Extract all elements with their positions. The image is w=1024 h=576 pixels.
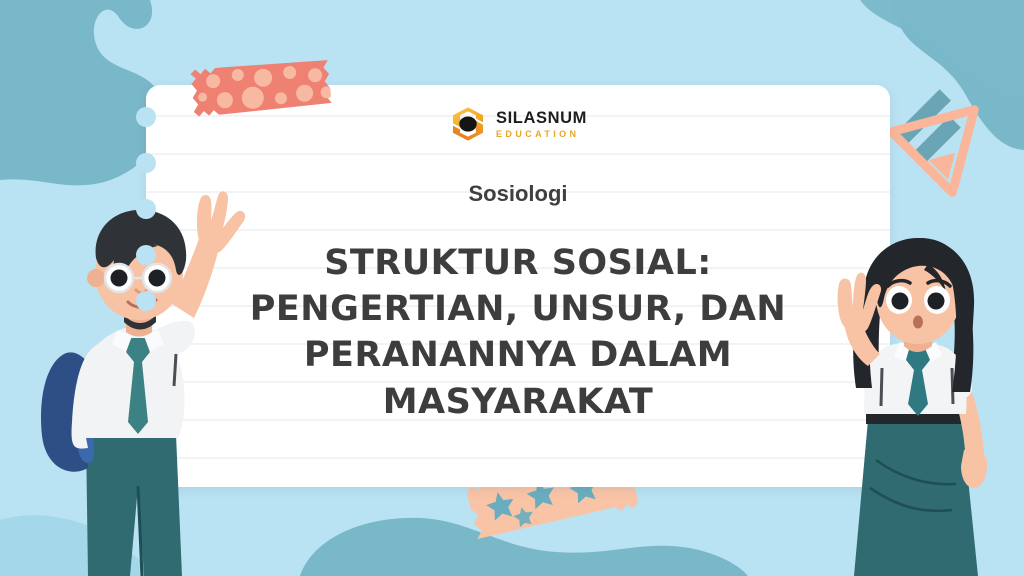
boy-ear bbox=[87, 269, 105, 287]
boy-shirt-seam bbox=[174, 354, 176, 386]
title-line-1: STRUKTUR SOSIAL: bbox=[206, 240, 830, 286]
triangle-ornament-icon bbox=[888, 88, 994, 198]
notebook-paper: SILASNUM EDUCATION Sosiologi STRUKTUR SO… bbox=[146, 85, 890, 487]
title-line-3: PERANANNYA DALAM bbox=[206, 332, 830, 378]
student-girl-illustration bbox=[806, 236, 1024, 576]
paper-binding-notches bbox=[136, 85, 158, 487]
girl-shirt-seam-left bbox=[881, 368, 882, 406]
subject-label: Sosiologi bbox=[146, 181, 890, 207]
boy-hand-icon bbox=[197, 191, 245, 253]
girl-mouth bbox=[913, 316, 923, 329]
page-title: STRUKTUR SOSIAL: PENGERTIAN, UNSUR, DAN … bbox=[206, 240, 830, 425]
hexagon-s-graduation-cap-logo-icon bbox=[449, 105, 487, 143]
slide-canvas: SILASNUM EDUCATION Sosiologi STRUKTUR SO… bbox=[0, 0, 1024, 576]
brand-tagline: EDUCATION bbox=[496, 130, 587, 139]
girl-shirt-seam-right bbox=[952, 368, 953, 404]
girl-right-hand-icon bbox=[961, 449, 987, 489]
brand-name: SILASNUM bbox=[496, 110, 587, 127]
girl-skirt bbox=[854, 420, 978, 576]
boy-legs bbox=[86, 434, 182, 576]
title-line-4: MASYARAKAT bbox=[206, 379, 830, 425]
title-line-2: PENGERTIAN, UNSUR, DAN bbox=[206, 286, 830, 332]
